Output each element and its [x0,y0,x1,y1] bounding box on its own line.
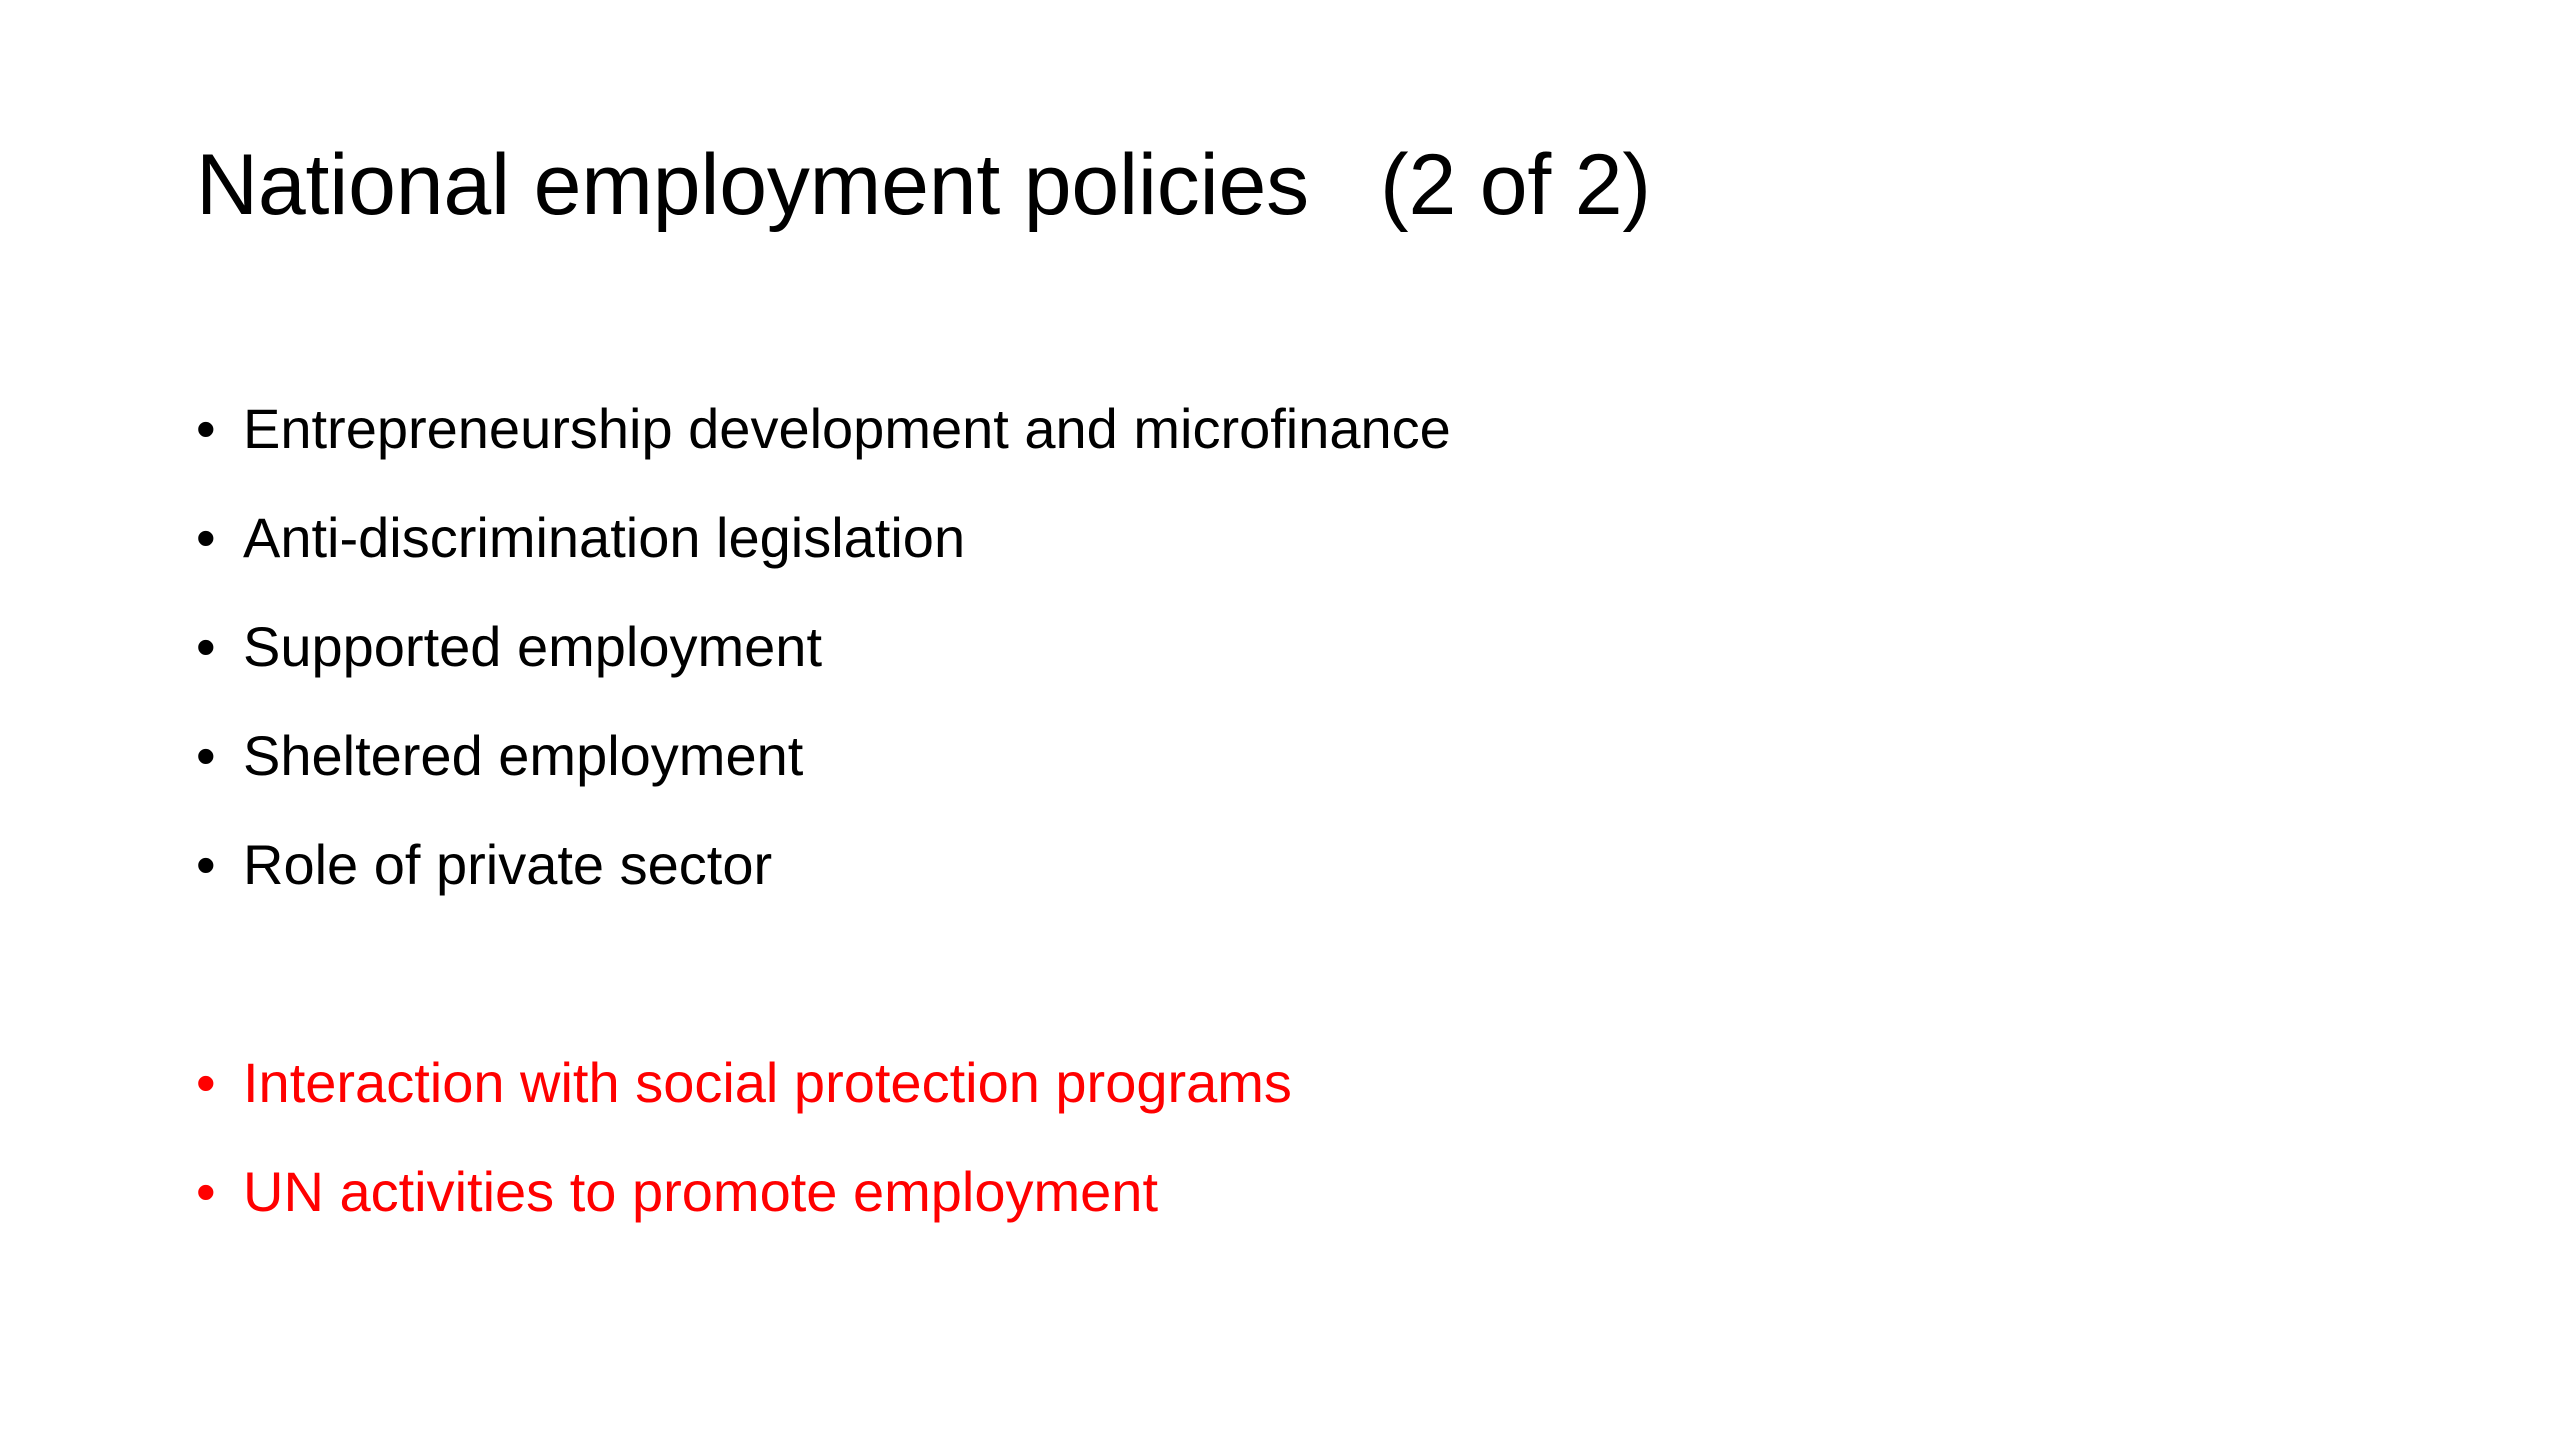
bullet-icon: • [196,483,243,592]
list-item-label: Supported employment [243,592,822,701]
bullet-icon: • [196,592,243,701]
list-item: • Role of private sector [196,810,2396,919]
bullet-icon: • [196,701,243,810]
list-item-label: Role of private sector [243,810,772,919]
list-item: • Supported employment [196,592,2396,701]
bullet-icon: • [196,374,243,483]
list-item-label: UN activities to promote employment [243,1137,1158,1246]
list-item-label: Sheltered employment [243,701,803,810]
list-item: • Sheltered employment [196,701,2396,810]
list-item-label: Entrepreneurship development and microfi… [243,374,1451,483]
bullet-icon: • [196,1028,243,1137]
presentation-slide: National employment policies (2 of 2) • … [0,0,2560,1440]
bullet-icon: • [196,1137,243,1246]
list-item-label: Anti-discrimination legislation [243,483,965,592]
list-item-label: Interaction with social protection progr… [243,1028,1292,1137]
list-spacer [196,919,2396,1028]
page-title: National employment policies (2 of 2) [196,140,2356,231]
bullet-list: • Entrepreneurship development and micro… [196,374,2396,1246]
bullet-icon: • [196,810,243,919]
list-item-highlighted: • Interaction with social protection pro… [196,1028,2396,1137]
list-item: • Entrepreneurship development and micro… [196,374,2396,483]
list-item: • Anti-discrimination legislation [196,483,2396,592]
list-item-highlighted: • UN activities to promote employment [196,1137,2396,1246]
